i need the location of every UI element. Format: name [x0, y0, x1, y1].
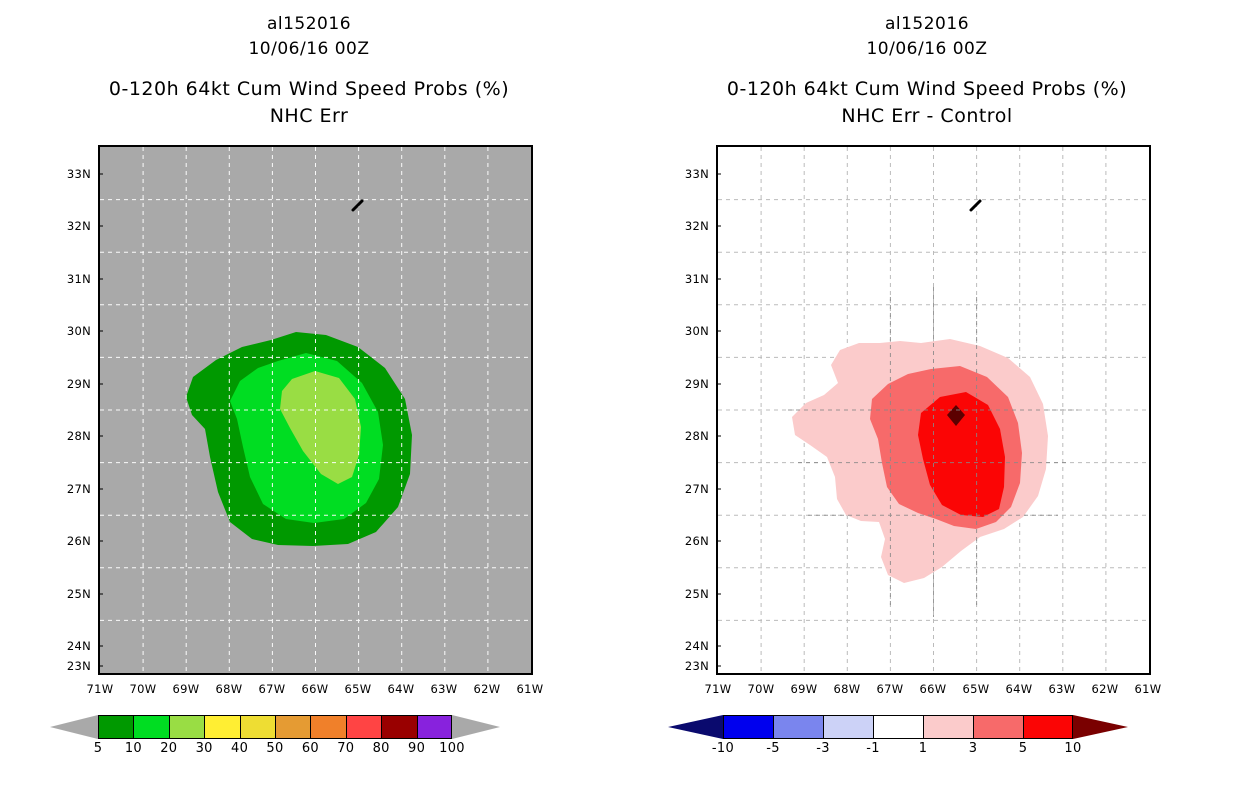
right-cbar-label-4: 1 [919, 741, 928, 756]
right-colorbar-over-arrow [1073, 715, 1128, 739]
right-xtick-5: 66W [920, 675, 947, 696]
right-ytick-9: 24N [685, 639, 716, 653]
cbar-cell-10-20 [133, 715, 168, 739]
left-xtick-4: 67W [259, 675, 286, 696]
left-xtick-9: 62W [474, 675, 501, 696]
left-storm-id: al152016 [0, 12, 618, 37]
right-cbar-label-6: 5 [1019, 741, 1028, 756]
cbar-cell-3-5 [973, 715, 1023, 739]
right-ytick-8: 25N [685, 587, 716, 601]
left-xtick-10: 61W [517, 675, 544, 696]
right-xtick-8: 63W [1049, 675, 1076, 696]
right-cbar-label-0: -10 [712, 741, 734, 756]
left-cbar-label-9: 90 [408, 741, 425, 756]
right-xtick-2: 69W [791, 675, 818, 696]
left-xtick-2: 69W [173, 675, 200, 696]
right-colorbar-cells [723, 715, 1073, 739]
cbar-cell-neg3-neg1 [823, 715, 873, 739]
right-cbar-label-2: -3 [816, 741, 830, 756]
left-subtitle: NHC Err [0, 103, 618, 130]
cbar-cell-90-100 [417, 715, 452, 739]
left-ytick-5: 28N [67, 429, 98, 443]
left-title: 0-120h 64kt Cum Wind Speed Probs (%) [0, 76, 618, 103]
right-storm-id: al152016 [618, 12, 1236, 37]
left-contour-layer [100, 147, 531, 673]
left-colorbar-under-arrow [50, 715, 98, 739]
right-xtick-7: 64W [1006, 675, 1033, 696]
left-cbar-label-1: 10 [125, 741, 142, 756]
left-cbar-label-10: 100 [439, 741, 465, 756]
left-ytick-0: 33N [67, 167, 98, 181]
right-datetime: 10/06/16 00Z [618, 37, 1236, 62]
panel-nhc-err: al152016 10/06/16 00Z 0-120h 64kt Cum Wi… [0, 0, 618, 800]
cbar-cell-neg5-neg3 [773, 715, 823, 739]
panel-nhc-err-minus-control: al152016 10/06/16 00Z 0-120h 64kt Cum Wi… [618, 0, 1236, 800]
left-ytick-10: 23N [67, 659, 98, 673]
left-cbar-label-6: 60 [302, 741, 319, 756]
cbar-cell-30-40 [204, 715, 239, 739]
left-ytick-3: 30N [67, 324, 98, 338]
left-cbar-label-4: 40 [231, 741, 248, 756]
right-ytick-3: 30N [685, 324, 716, 338]
cbar-cell-1-3 [923, 715, 973, 739]
left-cbar-label-0: 5 [94, 741, 103, 756]
left-colorbar-over-arrow [452, 715, 500, 739]
right-xtick-1: 70W [748, 675, 775, 696]
right-plot-area: 33N 32N 31N 30N 29N 28N 27N 26N 25N 24N … [716, 145, 1151, 675]
right-map-canvas [716, 145, 1151, 675]
right-ytick-2: 31N [685, 272, 716, 286]
left-ytick-1: 32N [67, 219, 98, 233]
left-cbar-label-8: 80 [373, 741, 390, 756]
left-xtick-6: 65W [345, 675, 372, 696]
left-xtick-0: 71W [87, 675, 114, 696]
left-xtick-5: 66W [302, 675, 329, 696]
cbar-cell-neg10-neg5 [723, 715, 773, 739]
right-contour-layer [718, 147, 1149, 673]
left-xtick-8: 63W [431, 675, 458, 696]
right-ytick-0: 33N [685, 167, 716, 181]
right-xtick-4: 67W [877, 675, 904, 696]
cbar-cell-5-10 [98, 715, 133, 739]
cbar-cell-neg1-1 [873, 715, 923, 739]
left-colorbar-cells [98, 715, 452, 739]
right-colorbar: -10 -5 -3 -1 1 3 5 10 [668, 715, 1168, 765]
right-cbar-label-7: 10 [1064, 741, 1081, 756]
right-xtick-10: 61W [1135, 675, 1162, 696]
right-ytick-10: 23N [685, 659, 716, 673]
left-xtick-7: 64W [388, 675, 415, 696]
right-cbar-label-1: -5 [766, 741, 780, 756]
left-datetime: 10/06/16 00Z [0, 37, 618, 62]
right-cbar-label-5: 3 [969, 741, 978, 756]
cbar-cell-50-60 [275, 715, 310, 739]
right-colorbar-under-arrow [668, 715, 723, 739]
right-ytick-4: 29N [685, 377, 716, 391]
left-colorbar: 5 10 20 30 40 50 60 70 80 90 100 [50, 715, 550, 765]
cbar-cell-60-70 [310, 715, 345, 739]
left-ytick-6: 27N [67, 482, 98, 496]
right-ytick-7: 26N [685, 534, 716, 548]
left-xtick-3: 68W [216, 675, 243, 696]
left-ytick-7: 26N [67, 534, 98, 548]
right-subtitle: NHC Err - Control [618, 103, 1236, 130]
cbar-cell-20-30 [169, 715, 204, 739]
right-xtick-3: 68W [834, 675, 861, 696]
right-cbar-label-3: -1 [866, 741, 880, 756]
cbar-cell-70-80 [346, 715, 381, 739]
left-map-canvas [98, 145, 533, 675]
left-xtick-1: 70W [130, 675, 157, 696]
cbar-cell-40-50 [240, 715, 275, 739]
cbar-cell-80-90 [381, 715, 416, 739]
right-ytick-6: 27N [685, 482, 716, 496]
right-xtick-9: 62W [1092, 675, 1119, 696]
right-ytick-1: 32N [685, 219, 716, 233]
right-ytick-5: 28N [685, 429, 716, 443]
right-panel-titles: al152016 10/06/16 00Z 0-120h 64kt Cum Wi… [618, 12, 1236, 130]
cbar-cell-5-10 [1023, 715, 1073, 739]
left-cbar-label-2: 20 [160, 741, 177, 756]
left-plot-area: 33N 32N 31N 30N 29N 28N 27N 26N 25N 24N … [98, 145, 533, 675]
left-cbar-label-5: 50 [266, 741, 283, 756]
right-xtick-6: 65W [963, 675, 990, 696]
left-cbar-label-7: 70 [337, 741, 354, 756]
left-ytick-4: 29N [67, 377, 98, 391]
left-ytick-8: 25N [67, 587, 98, 601]
left-cbar-label-3: 30 [196, 741, 213, 756]
left-panel-titles: al152016 10/06/16 00Z 0-120h 64kt Cum Wi… [0, 12, 618, 130]
left-ytick-2: 31N [67, 272, 98, 286]
right-title: 0-120h 64kt Cum Wind Speed Probs (%) [618, 76, 1236, 103]
right-xtick-0: 71W [705, 675, 732, 696]
left-ytick-9: 24N [67, 639, 98, 653]
